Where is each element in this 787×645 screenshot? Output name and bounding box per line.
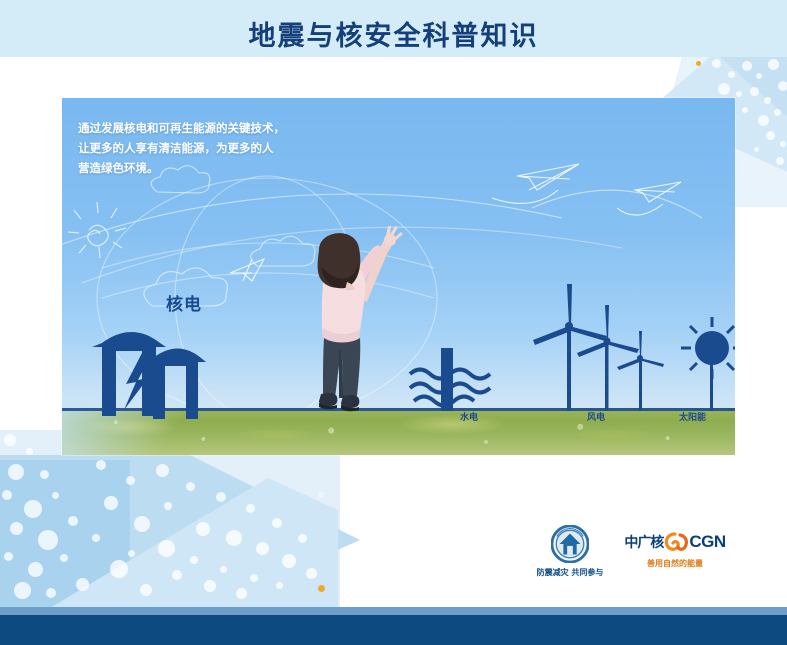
cgn-chinese-name: 中广核 <box>624 532 663 552</box>
label-wind-power: 风电 <box>587 410 605 423</box>
page-title: 地震与核安全科普知识 <box>0 14 787 53</box>
footer-logos: 防震减灾 共同参与 中广核 CGN 善用自然的能量 <box>490 525 740 590</box>
header-band: 地震与核安全科普知识 <box>0 0 787 57</box>
cgn-swirl-icon <box>664 532 688 552</box>
footer-accent-strip <box>0 607 787 615</box>
label-solar-power: 太阳能 <box>679 410 706 423</box>
child-figure <box>293 220 403 412</box>
cgn-english-name: CGN <box>689 532 725 552</box>
label-nuclear-power: 核电 <box>166 290 202 315</box>
seal-emblem-icon <box>551 525 589 563</box>
cgn-tagline: 善用自然的能量 <box>610 558 740 569</box>
footer-bar <box>0 615 787 645</box>
wind-turbine-icon <box>533 284 664 411</box>
hydro-power-icon <box>410 348 490 411</box>
slide-canvas: 地震与核安全科普知识 <box>0 0 787 645</box>
label-hydro-power: 水电 <box>460 410 478 423</box>
hero-photo-panel: 通过发展核电和可再生能源的关键技术， 让更多的人享有清洁能源，为更多的人 营造绿… <box>62 98 735 455</box>
cgn-logo: 中广核 CGN 善用自然的能量 <box>610 531 740 569</box>
solar-sun-icon <box>681 317 735 411</box>
cgn-logo-row: 中广核 CGN <box>610 531 740 553</box>
nuclear-plant-icon <box>92 332 206 419</box>
